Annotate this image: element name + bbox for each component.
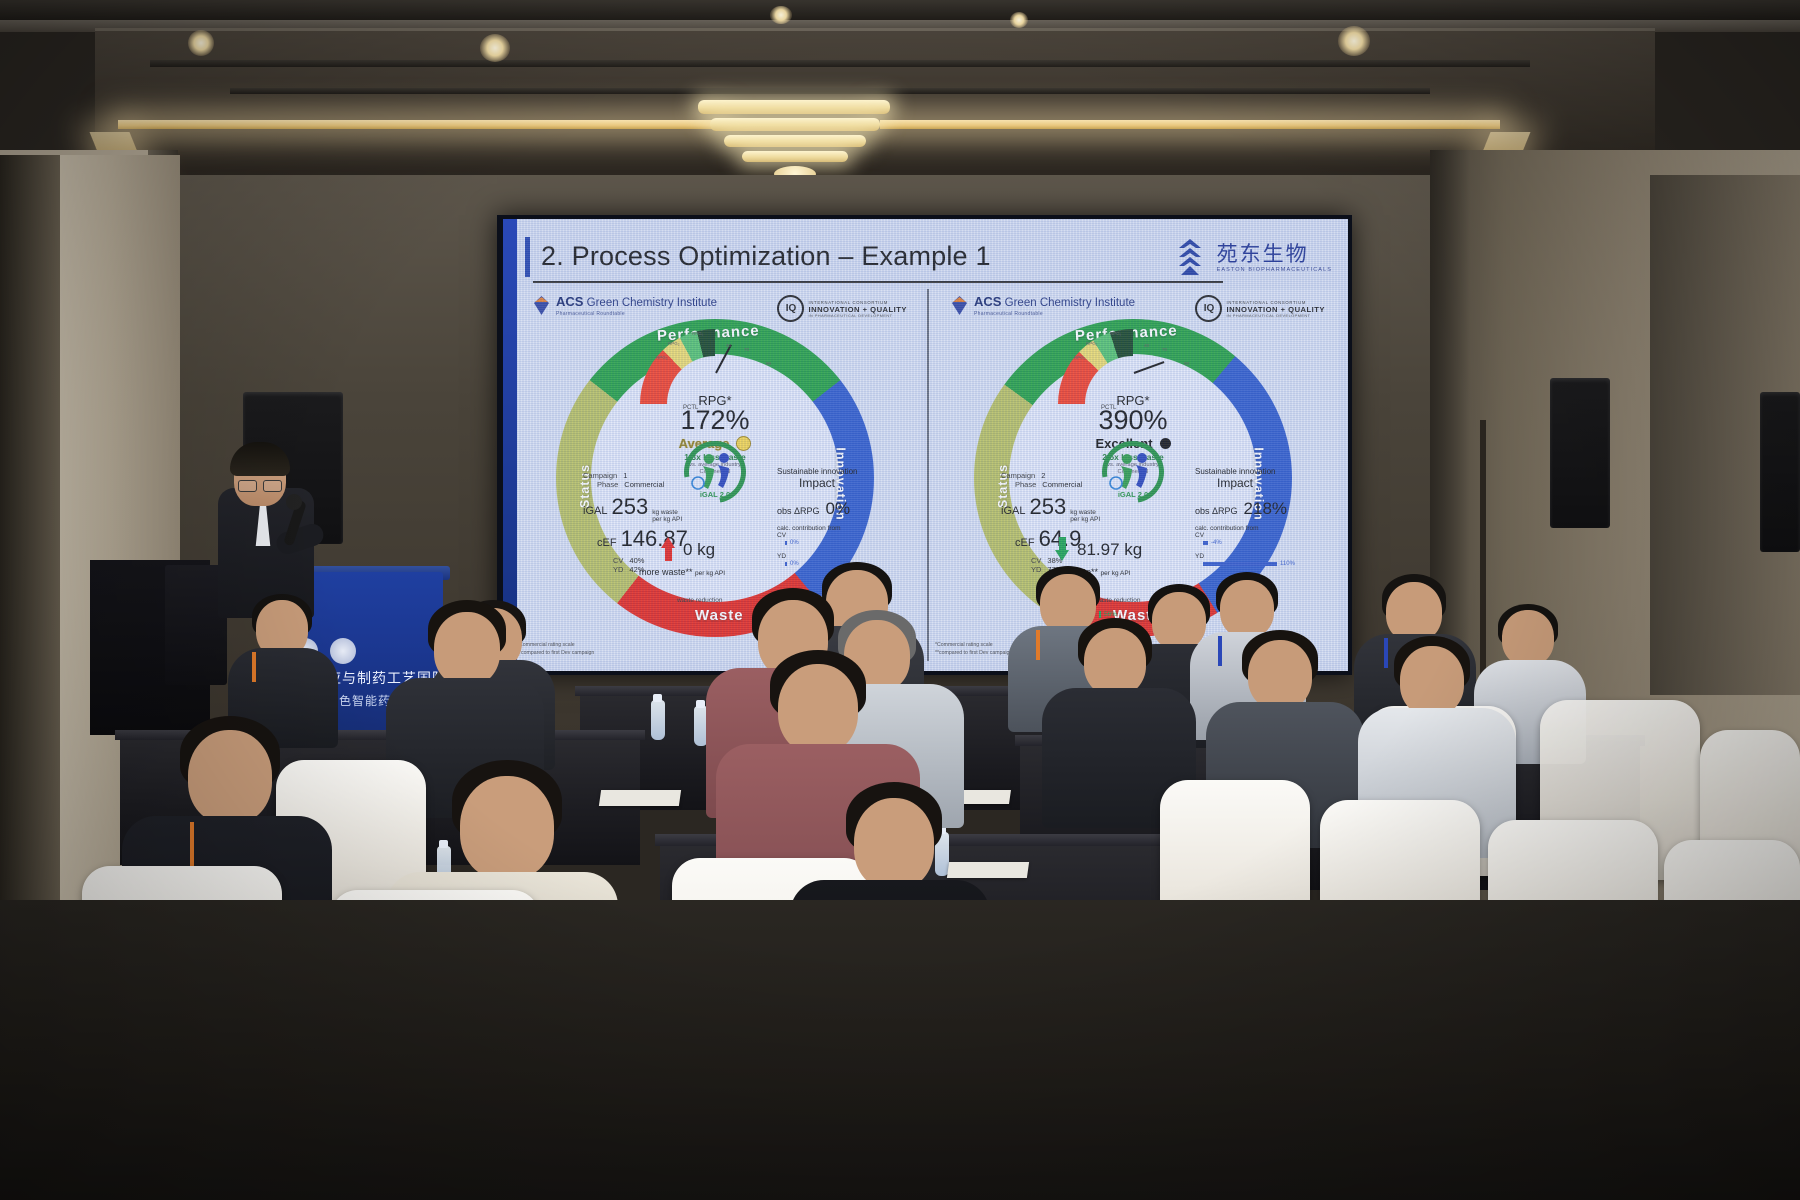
gauge-tick-90-right: 90 [1184,361,1189,366]
title-accent-bar [525,237,530,277]
cef-label-right: cEF [1015,537,1035,549]
footnote-2-left: **compared to first Dev campaign [517,650,594,657]
paper-1 [599,790,681,806]
cove-light-left [118,120,718,129]
calc-label-right: calc. contribution from [1195,525,1325,532]
gauge-tick-90-left: 90 [766,361,771,366]
people-lightbulb-icon [684,447,746,493]
iq-mark-icon: IQ [777,295,804,322]
campaign-row-right: Campaign 2 [1001,471,1100,480]
phase-label-left: Phase [597,480,618,489]
ceiling-rail-2 [230,88,1430,94]
igal2-logo-right: iGAL 2.0 [1102,441,1164,503]
waste-arrow-up-icon-left [661,537,675,561]
acs-diamond-icon-right [949,295,970,316]
water-bottle-1 [651,700,665,740]
acs-logo-right: ACS Green Chemistry Institute Pharmaceut… [949,295,1135,317]
floor [0,900,1800,1200]
iq-mark-icon-right: IQ [1195,295,1222,322]
gauge-tick-1-left: RPG₃ [656,355,668,360]
ceiling-downlight-5 [1010,12,1028,28]
phase-value-left: Commercial [624,480,664,489]
drpg-label-left: obs ΔRPG [777,506,820,516]
waste-block-left: 0 kg [661,537,715,561]
cove-light-right [880,120,1500,129]
phase-row-left: Phase Commercial [597,480,688,489]
footnote-1-right: *Commercial rating scale [935,642,1012,649]
ceiling-rail-1 [150,60,1530,67]
gauge-tick-2-right: RPG₂ [1086,341,1098,346]
calc-label-left: calc. contribution from [777,525,907,532]
pillar-shadow [0,155,60,935]
gauge-tick-3-left: RPG₁ [692,331,703,336]
cv-label-right: CV [1031,556,1041,565]
iq-line3-right: IN PHARMACEUTICAL DEVELOPMENT [1226,314,1325,318]
ceiling-downlight-3 [1338,26,1370,56]
gauge-tick-70-left: 70 [744,347,749,352]
cv-value-left: 40% [629,556,644,565]
calc-yd-value-left: 0% [790,561,799,567]
drpg-label-right: obs ΔRPG [1195,506,1238,516]
footnote-1-left: *Commercial rating scale [517,642,594,649]
igal-units-left: kg waste per kg API [652,510,682,524]
phase-row-right: Phase Commercial [1015,480,1100,489]
drpg-row-right: obs ΔRPG 218% [1195,499,1325,519]
campaign-label-left: Campaign [583,471,617,480]
water-bottle-cap-1 [653,694,662,702]
yd-label-right: YD [1031,565,1041,574]
iq-logo-left: IQ INTERNATIONAL CONSORTIUM INNOVATION +… [777,295,907,322]
paper-3 [947,862,1029,878]
igal-row-left: iGAL 253 kg waste per kg API [583,496,688,524]
water-bottle-cap-2 [696,700,705,708]
calc-cv-value-left: 0% [790,540,799,546]
igal2-text-left: iGAL 2.0 [700,490,730,499]
sii-title2-left: Impact [799,476,907,490]
waste-reduction-value-right: 56% [1099,611,1117,618]
microphone-head [286,494,302,510]
campaign-value-left: 1 [623,471,627,480]
speaker-right [1550,378,1610,528]
iq-line3-left: IN PHARMACEUTICAL DEVELOPMENT [808,314,907,318]
drpg-value-right: 218% [1244,499,1287,519]
gauge-tick-2-left: RPG₂ [668,341,680,346]
brand-logo: 苑东生物 EASTON BIOPHARMACEUTICALS [1170,237,1332,279]
cv-label-left: CV [613,556,623,565]
gauge-tick-3-right: RPG₁ [1110,331,1121,336]
acs-diamond-icon [531,295,552,316]
gauge-tick-70-right: 70 [1162,347,1167,352]
brand-name-cn: 苑东生物 [1217,244,1332,265]
calc-yd-bar-right: 110% [1203,561,1325,567]
snowflake-logo-icon [1170,237,1210,279]
campaign-label-right: Campaign [1001,471,1035,480]
acs-subtitle-right: Pharmaceutical Roundtable [974,311,1135,317]
photo-scene: 2. Process Optimization – Example 1 苑东生物… [0,0,1800,1200]
igal-units-right: kg waste per kg API [1070,510,1100,524]
ceiling-downlight-1 [188,30,214,56]
gauge-tick-40-right: 40 [1144,343,1149,348]
calc-yd-label-right: YD [1195,553,1325,560]
sichuan-university-logo-icon [330,638,356,664]
acs-subtitle-left: Pharmaceutical Roundtable [556,311,717,317]
rpg-value-left: 172% [630,407,800,434]
brand-name-en: EASTON BIOPHARMACEUTICALS [1217,267,1332,273]
sii-title1-right: Sustainable innovation [1195,467,1325,476]
rpg-value-right: 390% [1048,407,1218,434]
waste-block-right: 81.97 kg [1055,537,1142,561]
igal2-text-right: iGAL 2.0 [1118,490,1148,499]
igal-unit2-right: per kg API [1070,517,1100,524]
people-lightbulb-icon-right [1102,447,1164,493]
calc-cv-value-right: -4% [1211,540,1222,546]
igal-value-right: 253 [1029,496,1066,518]
iq-line2-right: INNOVATION + QUALITY [1226,305,1325,314]
slide-title: 2. Process Optimization – Example 1 [541,241,991,272]
gauge-tick-1-right: RPG₃ [1074,355,1086,360]
igal2-logo-left: iGAL 2.0 [684,441,746,503]
waste-reduction-label-right: waste reduction [1095,597,1141,604]
waste-reduction-value-left: 0% [681,611,695,618]
phase-label-right: Phase [1015,480,1036,489]
arc-label-waste-left: Waste [695,607,744,624]
ceiling-slot [0,0,1800,20]
calc-cv-bar-right: -4% [1203,540,1325,546]
iq-line2-left: INNOVATION + QUALITY [808,305,907,314]
footnotes-right: *Commercial rating scale **compared to f… [935,642,1012,657]
gauge-tick-40-left: 40 [726,343,731,348]
ceiling-downlight-4 [770,6,792,24]
acs-logo-left: ACS Green Chemistry Institute Pharmaceut… [531,295,717,317]
sii-title1-left: Sustainable innovation [777,467,907,476]
drpg-row-left: obs ΔRPG 0% [777,499,907,519]
calc-cv-bar-left: 0% [785,540,907,546]
acs-title-right: ACS Green Chemistry Institute [974,295,1135,310]
campaign-value-right: 2 [1041,471,1045,480]
acs-title-left: ACS Green Chemistry Institute [556,295,717,310]
footnotes-left: *Commercial rating scale **compared to f… [517,642,594,657]
cef-label-left: cEF [597,537,617,549]
innovation-block-left: Sustainable innovation Impact obs ΔRPG 0… [777,467,907,567]
innovation-block-right: Sustainable innovation Impact obs ΔRPG 2… [1195,467,1325,567]
waste-value-left: 0 kg [683,541,715,558]
waste-arrow-down-icon-right [1055,537,1069,561]
presenter-glasses-icon [238,480,282,490]
calc-cv-label-right: CV [1195,532,1325,539]
drpg-value-left: 0% [826,499,851,519]
sii-title2-right: Impact [1217,476,1325,490]
igal-row-right: iGAL 253 kg waste per kg API [1001,496,1100,524]
igal-unit2-left: per kg API [652,517,682,524]
title-underline [533,281,1223,283]
waste-value-right: 81.97 kg [1077,541,1142,558]
yd-label-left: YD [613,565,623,574]
ceiling-downlight-2 [480,34,510,62]
water-bottle-cap-4 [439,840,448,848]
iq-logo-right: IQ INTERNATIONAL CONSORTIUM INNOVATION +… [1195,295,1325,322]
calc-yd-label-left: YD [777,553,907,560]
speaker-far-right [1760,392,1800,552]
waste-reduction-label-left: waste reduction [677,597,723,604]
igal-label-right: iGAL [1001,505,1025,517]
igal-value-left: 253 [611,496,648,518]
calc-yd-value-right: 110% [1280,561,1295,567]
below-text-1: es metric [953,669,1014,671]
campaign-row-left: Campaign 1 [583,471,688,480]
footnote-2-right: **compared to first Dev campaign [935,650,1012,657]
igal-label-left: iGAL [583,505,607,517]
waste-label-left: more waste** per kg API [639,567,725,577]
calc-cv-label-left: CV [777,532,907,539]
phase-value-right: Commercial [1042,480,1082,489]
